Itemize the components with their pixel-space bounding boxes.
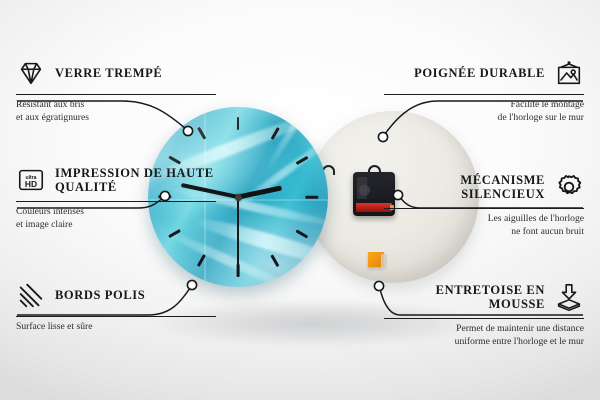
feature-divider: [16, 201, 216, 202]
feature-title: POIGNÉE DURABLE: [414, 66, 545, 81]
feature-description: Surface lisse et sûre: [16, 321, 216, 333]
feature-divider: [16, 94, 216, 95]
gear-icon: [554, 172, 584, 202]
feature-title: IMPRESSION DE HAUTE QUALITÉ: [55, 166, 216, 195]
feature-title: MÉCANISME SILENCIEUX: [384, 173, 545, 202]
hour-marker: [237, 117, 240, 197]
picture-frame-hanger-icon: [554, 58, 584, 88]
feature-impression-haute-qualite: ultra HD IMPRESSION DE HAUTE QUALITÉ Cou…: [16, 163, 216, 231]
feature-description: Facilite le montage de l'horloge sur le …: [384, 99, 584, 124]
connector-dot-entretoise: [374, 281, 383, 290]
feature-poignee-durable: POIGNÉE DURABLE Facilite le montage de l…: [384, 56, 584, 124]
feature-title: VERRE TREMPÉ: [55, 66, 162, 81]
feature-divider: [384, 318, 584, 319]
polished-edges-icon: [16, 280, 46, 310]
second-hand: [237, 197, 239, 265]
feature-divider: [384, 94, 584, 95]
foam-spacer-pad: [368, 252, 384, 267]
infographic-canvas: VERRE TREMPÉ Résistant aux bris et aux é…: [0, 0, 600, 400]
clock-hands-hub: [235, 194, 242, 201]
svg-text:HD: HD: [25, 179, 37, 189]
foam-spacer-icon: [554, 282, 584, 312]
feature-divider: [16, 316, 216, 317]
feature-description: Couleurs intenses et image claire: [16, 206, 216, 231]
feature-entretoise-en-mousse: ENTRETOISE EN MOUSSE Permet de maintenir…: [384, 280, 584, 348]
feature-bords-polis: BORDS POLIS Surface lisse et sûre: [16, 278, 216, 334]
feature-verre-trempe: VERRE TREMPÉ Résistant aux bris et aux é…: [16, 56, 216, 124]
feature-title: BORDS POLIS: [55, 288, 145, 303]
feature-description: Les aiguilles de l'horloge ne font aucun…: [384, 213, 584, 238]
feature-title: ENTRETOISE EN MOUSSE: [384, 283, 545, 312]
feature-divider: [384, 208, 584, 209]
diamond-icon: [16, 58, 46, 88]
feature-description: Résistant aux bris et aux égratignures: [16, 99, 216, 124]
feature-description: Permet de maintenir une distance uniform…: [384, 323, 584, 348]
feature-mecanisme-silencieux: MÉCANISME SILENCIEUX Les aiguilles de l'…: [384, 170, 584, 238]
ultra-hd-icon: ultra HD: [16, 165, 46, 195]
